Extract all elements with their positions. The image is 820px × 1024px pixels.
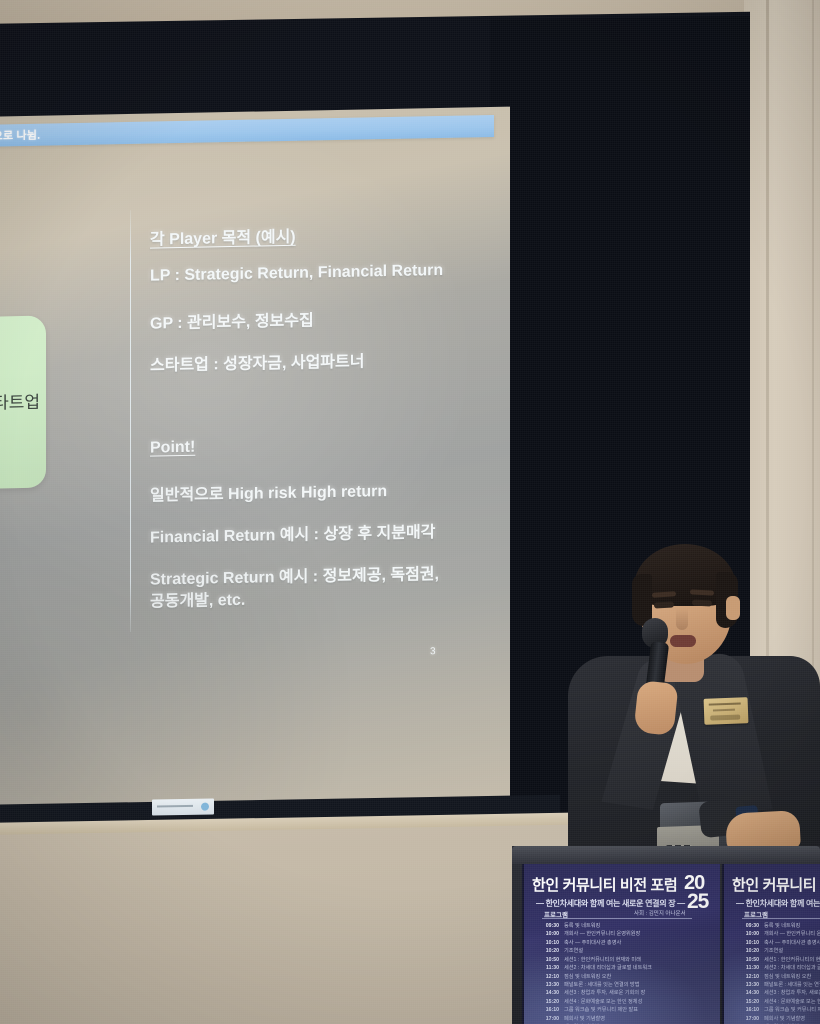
slide-heading: 각 Player 목적 (예시): [150, 223, 296, 250]
schedule-description: 축사 — 주미대사관 총영사: [564, 939, 621, 947]
slide-line-lp: LP : Strategic Return, Financial Return: [150, 262, 443, 286]
schedule-description: 세션1 : 한인커뮤니티의 현재와 미래: [764, 956, 820, 964]
schedule-time: 10:20: [738, 947, 759, 955]
slide-vertical-divider: [130, 210, 131, 632]
schedule-description: 점심 및 네트워킹 오찬: [564, 973, 611, 981]
schedule-time: 09:30: [538, 922, 559, 930]
schedule-time: 15:20: [538, 998, 559, 1006]
schedule-row: 16:10그룹 워크숍 및 커뮤니티 제안 발표: [738, 1006, 820, 1014]
screen-label-tag-dot: [201, 803, 209, 811]
slide-header-bar: Return으로 나뉨.: [0, 115, 494, 147]
schedule-row: 12:10점심 및 네트워킹 오찬: [538, 973, 716, 981]
podium-banner-divider: [542, 918, 692, 919]
podium-top-edge: [512, 846, 820, 864]
podium-banner-program-note: 사회 : 김민지 아나운서: [634, 909, 686, 917]
schedule-description: 폐회사 및 기념촬영: [764, 1015, 805, 1023]
schedule-time: 10:10: [538, 939, 559, 947]
schedule-description: 세션4 : 문화예술로 보는 한인 정체성: [564, 998, 642, 1006]
schedule-row: 11:30세션2 : 차세대 리더십과 글로벌 네트워크: [538, 964, 716, 972]
schedule-description: 등록 및 네트워킹: [564, 922, 600, 930]
podium-banner-left: 한인 커뮤니티 비전 포럼 20 25 — 한인차세대와 함께 여는 새로운 연…: [522, 864, 720, 1024]
slide-header-bar-text: Return으로 나뉨.: [0, 127, 40, 145]
schedule-time: 13:30: [738, 981, 759, 989]
podium-banner-subtitle: — 한인차세대와 함께 여는 새로운 연결의 장 —: [536, 898, 685, 909]
schedule-row: 17:00폐회사 및 기념촬영: [538, 1015, 716, 1023]
podium-banner-right: 한인 커뮤니티 비전 포럼 — 한인차세대와 함께 여는 새로운 연결의 장 —…: [722, 864, 820, 1024]
schedule-row: 14:30세션3 : 창업과 투자, 새로운 기회의 장: [738, 989, 820, 997]
schedule-row: 09:30등록 및 네트워킹: [538, 922, 716, 930]
presenter-ear: [726, 596, 740, 620]
podium-banner-title-2: 한인 커뮤니티 비전 포럼: [732, 874, 820, 895]
schedule-description: 기조연설: [564, 947, 583, 955]
schedule-time: 16:10: [738, 1006, 759, 1014]
schedule-description: 세션2 : 차세대 리더십과 글로벌 네트워크: [764, 964, 820, 972]
schedule-description: 패널토론 : 세대를 잇는 연결의 방법: [564, 981, 639, 989]
schedule-row: 10:10축사 — 주미대사관 총영사: [538, 939, 716, 947]
name-badge-line-2: [713, 709, 735, 712]
slide-point-line-2: Financial Return 예시 : 상장 후 지분매각: [150, 518, 435, 547]
schedule-time: 17:00: [738, 1015, 759, 1023]
presenter-eye-right: [692, 599, 712, 606]
schedule-time: 17:00: [538, 1015, 559, 1023]
schedule-description: 패널토론 : 세대를 잇는 연결의 방법: [764, 981, 820, 989]
slide-point-line-1: 일반적으로 High risk High return: [150, 477, 387, 506]
schedule-time: 10:00: [738, 930, 759, 938]
schedule-description: 그룹 워크숍 및 커뮤니티 제안 발표: [764, 1006, 820, 1014]
schedule-time: 10:00: [538, 930, 559, 938]
schedule-description: 기조연설: [764, 947, 783, 955]
schedule-description: 축사 — 주미대사관 총영사: [764, 939, 820, 947]
conference-photo-scene: Return으로 나뉨. 스타트업 각 Player 목적 (예시) LP : …: [0, 0, 820, 1024]
name-badge-line-1: [709, 702, 741, 705]
presenter-nose: [676, 608, 688, 630]
slide-point-line-3: Strategic Return 예시 : 정보제공, 독점권,: [150, 560, 439, 590]
schedule-description: 폐회사 및 기념촬영: [564, 1015, 605, 1023]
slide-page-number: 3: [430, 646, 436, 657]
schedule-time: 15:20: [738, 998, 759, 1006]
schedule-description: 세션3 : 창업과 투자, 새로운 기회의 장: [764, 989, 820, 997]
schedule-time: 10:50: [538, 956, 559, 964]
podium-banner-schedule: 09:30등록 및 네트워킹10:00개회사 — 한인커뮤니티 운영위원장10:…: [538, 922, 716, 1024]
schedule-time: 09:30: [738, 922, 759, 930]
schedule-description: 등록 및 네트워킹: [764, 922, 800, 930]
slide-green-box: 스타트업: [0, 316, 46, 491]
slide-line-startup: 스타트업 : 성장자금, 사업파트너: [150, 347, 364, 375]
schedule-row: 16:10그룹 워크숍 및 커뮤니티 제안 발표: [538, 1006, 716, 1014]
schedule-description: 그룹 워크숍 및 커뮤니티 제안 발표: [564, 1006, 638, 1014]
slide-point-line-4: 공동개발, etc.: [150, 586, 245, 612]
schedule-time: 16:10: [538, 1006, 559, 1014]
screen-label-tag-line: [157, 805, 193, 808]
schedule-time: 13:30: [538, 981, 559, 989]
schedule-row: 13:30패널토론 : 세대를 잇는 연결의 방법: [738, 981, 820, 989]
schedule-row: 10:00개회사 — 한인커뮤니티 운영위원장: [738, 930, 820, 938]
schedule-row: 11:30세션2 : 차세대 리더십과 글로벌 네트워크: [738, 964, 820, 972]
schedule-time: 10:20: [538, 947, 559, 955]
schedule-row: 10:10축사 — 주미대사관 총영사: [738, 939, 820, 947]
schedule-row: 13:30패널토론 : 세대를 잇는 연결의 방법: [538, 981, 716, 989]
schedule-time: 14:30: [538, 989, 559, 997]
podium-banner-divider-2: [742, 918, 820, 919]
schedule-time: 12:10: [538, 973, 559, 981]
presenter-name-badge: [704, 697, 749, 725]
schedule-time: 11:30: [538, 964, 559, 972]
slide-point-heading: Point!: [150, 439, 195, 458]
presenter-mouth: [670, 635, 696, 647]
schedule-time: 14:30: [738, 989, 759, 997]
schedule-time: 10:50: [738, 956, 759, 964]
schedule-row: 12:10점심 및 네트워킹 오찬: [738, 973, 820, 981]
schedule-row: 09:30등록 및 네트워킹: [738, 922, 820, 930]
schedule-time: 10:10: [738, 939, 759, 947]
podium-banner-subtitle-2: — 한인차세대와 함께 여는 새로운 연결의 장 —: [736, 898, 820, 909]
schedule-description: 세션1 : 한인커뮤니티의 현재와 미래: [564, 956, 641, 964]
schedule-row: 10:20기조연설: [738, 947, 820, 955]
schedule-row: 10:00개회사 — 한인커뮤니티 운영위원장: [538, 930, 716, 938]
schedule-time: 12:10: [738, 973, 759, 981]
projected-slide: Return으로 나뉨. 스타트업 각 Player 목적 (예시) LP : …: [0, 107, 510, 818]
schedule-row: 14:30세션3 : 창업과 투자, 새로운 기회의 장: [538, 989, 716, 997]
screen-label-tag: [152, 798, 214, 815]
schedule-description: 개회사 — 한인커뮤니티 운영위원장: [764, 930, 820, 938]
schedule-description: 세션3 : 창업과 투자, 새로운 기회의 장: [564, 989, 645, 997]
schedule-row: 15:20세션4 : 문화예술로 보는 한인 정체성: [738, 998, 820, 1006]
podium-banner-title: 한인 커뮤니티 비전 포럼: [532, 874, 677, 895]
podium-banner-year-bottom: 25: [687, 892, 708, 911]
schedule-description: 세션4 : 문화예술로 보는 한인 정체성: [764, 998, 820, 1006]
schedule-row: 10:50세션1 : 한인커뮤니티의 현재와 미래: [738, 956, 820, 964]
slide-green-box-label: 스타트업: [0, 388, 46, 416]
schedule-description: 세션2 : 차세대 리더십과 글로벌 네트워크: [564, 964, 652, 972]
schedule-description: 개회사 — 한인커뮤니티 운영위원장: [564, 930, 640, 938]
podium-banner-schedule-2: 09:30등록 및 네트워킹10:00개회사 — 한인커뮤니티 운영위원장10:…: [738, 922, 820, 1024]
slide-line-gp: GP : 관리보수, 정보수집: [150, 306, 314, 333]
presenter-eye-left: [654, 601, 674, 608]
schedule-time: 11:30: [738, 964, 759, 972]
schedule-row: 10:50세션1 : 한인커뮤니티의 현재와 미래: [538, 956, 716, 964]
schedule-row: 17:00폐회사 및 기념촬영: [738, 1015, 820, 1023]
schedule-description: 점심 및 네트워킹 오찬: [764, 973, 811, 981]
name-badge-logo: [710, 715, 740, 721]
schedule-row: 15:20세션4 : 문화예술로 보는 한인 정체성: [538, 998, 716, 1006]
presenter-hand-holding-microphone: [633, 680, 678, 736]
slide-content: Return으로 나뉨. 스타트업 각 Player 목적 (예시) LP : …: [0, 107, 510, 818]
schedule-row: 10:20기조연설: [538, 947, 716, 955]
projector-glow: [0, 107, 510, 818]
